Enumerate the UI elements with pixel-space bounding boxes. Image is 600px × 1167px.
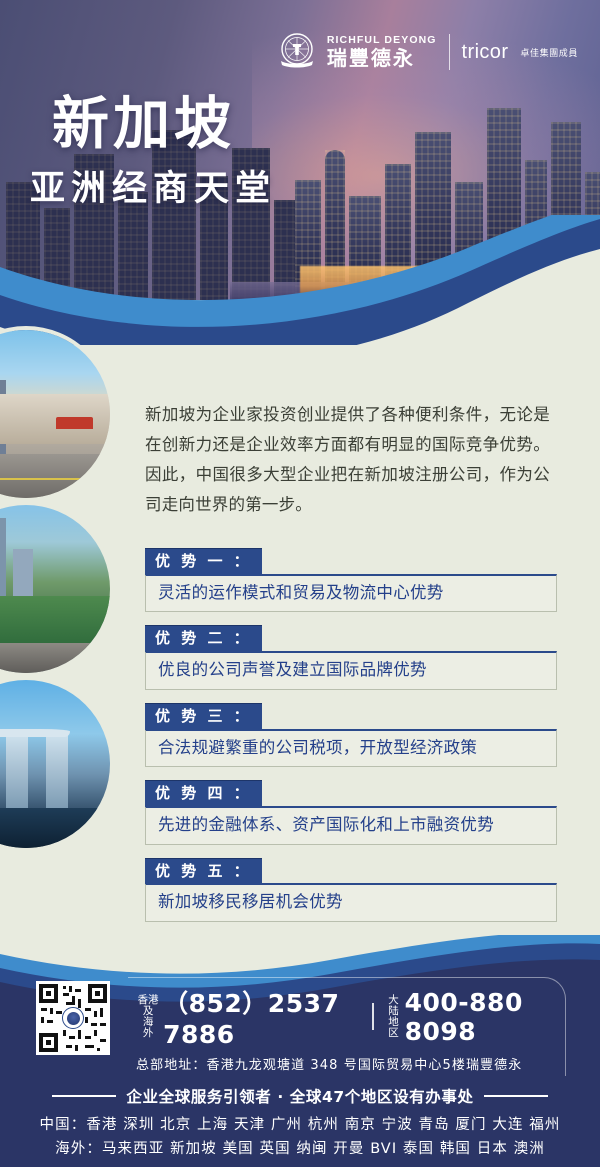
phone-cn-label: 大陆 地区 bbox=[386, 995, 402, 1039]
phone-hk-label: 香港及 海 外 bbox=[136, 995, 160, 1039]
phone-hk-label-line1: 香港及 bbox=[136, 995, 160, 1017]
slogan-rule-right bbox=[484, 1095, 548, 1097]
logo-divider bbox=[449, 34, 450, 70]
advantage-text: 灵活的运作模式和贸易及物流中心优势 bbox=[145, 574, 557, 613]
qr-center-logo bbox=[62, 1007, 84, 1029]
advantage-text: 合法规避繁重的公司税项，开放型经济政策 bbox=[145, 729, 557, 768]
slogan-rule-left bbox=[52, 1095, 116, 1097]
contact-frame: 香港及 海 外 （852）2537 7886 大陆 地区 400-880 809… bbox=[128, 977, 566, 1076]
logo-text-block: RICHFUL DEYONG 瑞豐德永 bbox=[327, 35, 437, 69]
phone-separator bbox=[372, 1003, 374, 1030]
advantage-tag: 优 势 五 ： bbox=[145, 858, 262, 885]
qr-code-image bbox=[39, 984, 107, 1052]
advantage-text: 优良的公司声誉及建立国际品牌优势 bbox=[145, 651, 557, 690]
phone-cn-label-line2: 地区 bbox=[386, 1017, 402, 1039]
slogan-row: 企业全球服务引领者 · 全球47个地区设有办事处 bbox=[0, 1085, 600, 1107]
page-title: 新加坡 bbox=[52, 78, 235, 160]
advantage-tag: 优 势 二 ： bbox=[145, 625, 262, 652]
intro-paragraph: 新加坡为企业家投资创业提供了各种便利条件，无论是在创新力还是企业效率方面都有明显… bbox=[145, 400, 550, 520]
regions-block: 中国：香港 深圳 北京 上海 天津 广州 杭州 南京 宁波 青岛 厦门 大连 福… bbox=[0, 1113, 600, 1161]
phone-row: 香港及 海 外 （852）2537 7886 大陆 地区 400-880 809… bbox=[136, 984, 557, 1049]
advantage-item: 优 势 三 ： 合法规避繁重的公司税项，开放型经济政策 bbox=[145, 703, 557, 767]
advantage-tag: 优 势 三 ： bbox=[145, 703, 262, 730]
logo-english: RICHFUL DEYONG bbox=[327, 35, 437, 46]
page-subtitle: 亚洲经商天堂 bbox=[30, 160, 276, 211]
phone-hk-number[interactable]: （852）2537 7886 bbox=[163, 984, 360, 1049]
advantage-item: 优 势 一 ： 灵活的运作模式和贸易及物流中心优势 bbox=[145, 548, 557, 612]
phone-cn-label-line1: 大陆 bbox=[386, 995, 402, 1017]
poster-root: RICHFUL DEYONG 瑞豐德永 tricor 卓佳集團成員 新加坡 亚洲… bbox=[0, 0, 600, 1167]
advantage-item: 优 势 四 ： 先进的金融体系、资产国际化和上市融资优势 bbox=[145, 780, 557, 844]
contact-details: 香港及 海 外 （852）2537 7886 大陆 地区 400-880 809… bbox=[128, 981, 566, 1082]
logo-chinese: 瑞豐德永 bbox=[327, 48, 415, 69]
contact-block: 香港及 海 外 （852）2537 7886 大陆 地区 400-880 809… bbox=[36, 981, 566, 1082]
main-content: 新加坡为企业家投资创业提供了各种便利条件，无论是在创新力还是企业效率方面都有明显… bbox=[0, 300, 600, 940]
advantage-item: 优 势 五 ： 新加坡移民移居机会优势 bbox=[145, 858, 557, 922]
advantage-list: 优 势 一 ： 灵活的运作模式和贸易及物流中心优势 优 势 二 ： 优良的公司声… bbox=[145, 548, 557, 935]
slogan-text: 企业全球服务引领者 · 全球47个地区设有办事处 bbox=[126, 1085, 473, 1107]
footer: 香港及 海 外 （852）2537 7886 大陆 地区 400-880 809… bbox=[0, 935, 600, 1167]
advantage-tag: 优 势 一 ： bbox=[145, 548, 262, 575]
advantage-tag: 优 势 四 ： bbox=[145, 780, 262, 807]
advantage-item: 优 势 二 ： 优良的公司声誉及建立国际品牌优势 bbox=[145, 625, 557, 689]
crest-icon bbox=[275, 30, 319, 74]
advantage-text: 先进的金融体系、资产国际化和上市融资优势 bbox=[145, 806, 557, 845]
company-logo: RICHFUL DEYONG 瑞豐德永 tricor 卓佳集團成員 bbox=[275, 30, 578, 74]
tricor-wordmark: tricor bbox=[462, 42, 509, 62]
qr-code[interactable] bbox=[36, 981, 110, 1055]
regions-china: 中国：香港 深圳 北京 上海 天津 广州 杭州 南京 宁波 青岛 厦门 大连 福… bbox=[0, 1113, 600, 1137]
tricor-chinese: 卓佳集團成員 bbox=[520, 46, 578, 59]
phone-cn-number[interactable]: 400-880 8098 bbox=[405, 988, 557, 1046]
regions-overseas: 海外：马来西亚 新加坡 美国 英国 纳闽 开曼 BVI 泰国 韩国 日本 澳洲 bbox=[0, 1137, 600, 1161]
address-line: 总部地址：香港九龙观塘道 348 号国际贸易中心5楼瑞豐德永 bbox=[136, 1054, 557, 1076]
advantage-text: 新加坡移民移居机会优势 bbox=[145, 883, 557, 922]
phone-hk-label-line2: 海 外 bbox=[136, 1017, 160, 1039]
